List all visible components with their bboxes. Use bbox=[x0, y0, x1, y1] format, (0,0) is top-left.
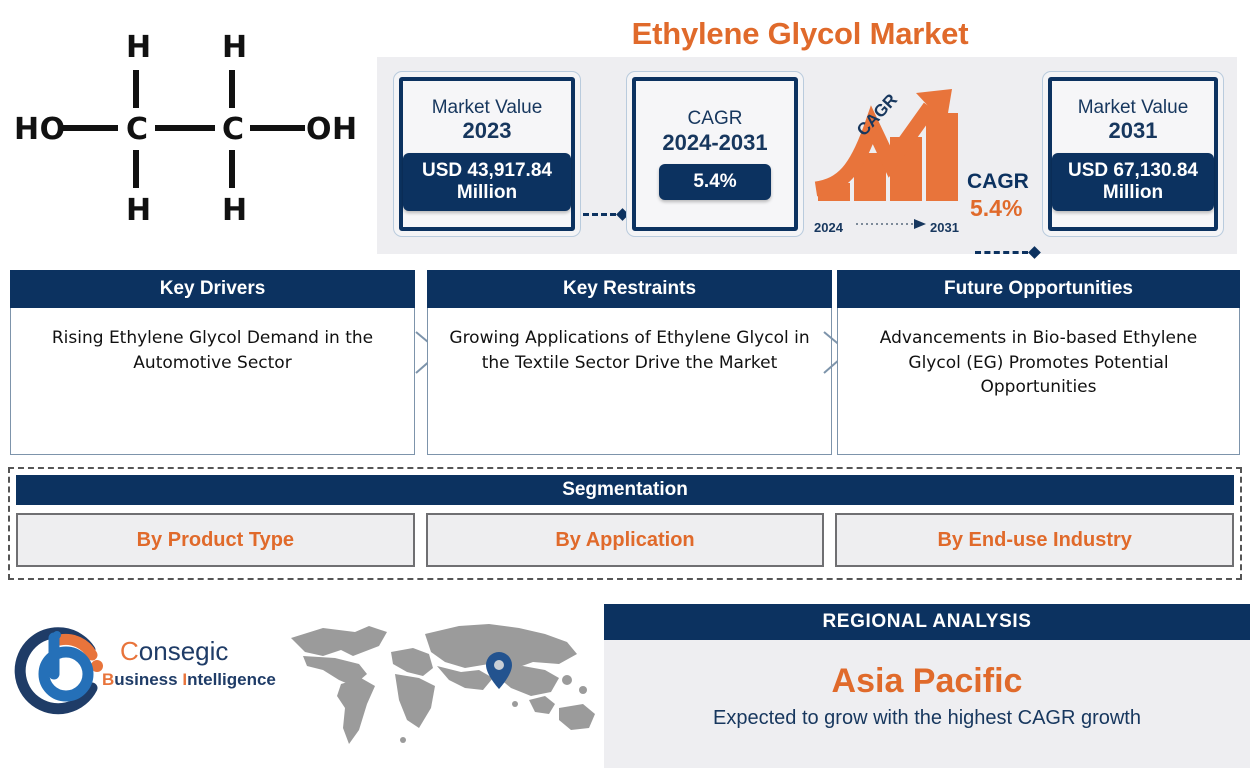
growth-bars-svg: CAGR bbox=[812, 85, 982, 215]
world-map-svg bbox=[283, 612, 603, 752]
panel-future-opportunities: Future Opportunities Advancements in Bio… bbox=[837, 270, 1240, 455]
panel-heading-future-opportunities: Future Opportunities bbox=[837, 270, 1240, 308]
consegic-logo-mark-icon bbox=[14, 622, 114, 718]
consegic-logo: Consegic Business Intelligence bbox=[14, 622, 284, 722]
logo-tagline-text: Business Intelligence bbox=[102, 670, 276, 690]
panel-text-future-opportunities: Advancements in Bio-based Ethylene Glyco… bbox=[837, 308, 1240, 455]
cagr-growth-chart-icon: CAGR 2024 2031 CAGR 5.4% bbox=[812, 85, 982, 235]
stat-title-2023: Market Value bbox=[432, 97, 543, 119]
stat-title-cagr: CAGR bbox=[688, 108, 743, 130]
cagr-label: CAGR bbox=[967, 170, 1029, 194]
segmentation-section: Segmentation By Product Type By Applicat… bbox=[8, 467, 1242, 580]
molecule-label-oh: OH bbox=[306, 112, 358, 147]
segmentation-item-by-application[interactable]: By Application bbox=[426, 513, 825, 567]
panel-text-key-restraints: Growing Applications of Ethylene Glycol … bbox=[427, 308, 832, 455]
panel-key-drivers: Key Drivers Rising Ethylene Glycol Deman… bbox=[10, 270, 415, 455]
cagr-value: 5.4% bbox=[970, 195, 1022, 222]
molecule-label-h-top-left: H bbox=[126, 30, 152, 65]
regional-analysis-heading: REGIONAL ANALYSIS bbox=[604, 604, 1250, 640]
segmentation-items-row: By Product Type By Application By End-us… bbox=[16, 513, 1234, 567]
molecule-label-h-bottom-left: H bbox=[126, 193, 152, 228]
world-map-graphic bbox=[283, 612, 603, 752]
regional-analysis-panel: REGIONAL ANALYSIS Asia Pacific Expected … bbox=[604, 604, 1250, 768]
growth-year-arrow-icon bbox=[856, 219, 928, 229]
connector-dotted-right bbox=[975, 247, 1039, 257]
panel-text-key-drivers: Rising Ethylene Glycol Demand in the Aut… bbox=[10, 308, 415, 455]
stat-value-2023: USD 43,917.84 Million bbox=[403, 153, 571, 212]
stat-period-cagr: 2024-2031 bbox=[662, 130, 767, 155]
regional-analysis-region-name: Asia Pacific bbox=[604, 662, 1250, 701]
stat-value-2031: USD 67,130.84 Million bbox=[1052, 153, 1214, 212]
stat-card-market-value-2031: Market Value 2031 USD 67,130.84 Million bbox=[1042, 71, 1224, 237]
segmentation-item-by-product-type[interactable]: By Product Type bbox=[16, 513, 415, 567]
panel-key-restraints: Key Restraints Growing Applications of E… bbox=[427, 270, 832, 455]
molecule-label-h-top-right: H bbox=[222, 30, 248, 65]
page-title: Ethylene Glycol Market bbox=[520, 16, 1080, 52]
growth-start-year: 2024 bbox=[814, 220, 843, 235]
segmentation-heading: Segmentation bbox=[16, 475, 1234, 505]
stat-year-2023: 2023 bbox=[463, 118, 512, 143]
connector-dotted-left bbox=[583, 209, 627, 219]
molecule-label-carbon-right: C bbox=[222, 112, 245, 147]
stat-value-cagr: 5.4% bbox=[659, 164, 770, 200]
segmentation-item-by-end-use-industry[interactable]: By End-use Industry bbox=[835, 513, 1234, 567]
stats-strip: Market Value 2023 USD 43,917.84 Million … bbox=[377, 57, 1237, 254]
molecule-label-h-bottom-right: H bbox=[222, 193, 248, 228]
infographic-root: HO OH C C H H H H Ethylene Glycol Market… bbox=[0, 0, 1250, 768]
logo-brand-text: Consegic bbox=[120, 636, 228, 667]
molecule-label-carbon-left: C bbox=[126, 112, 149, 147]
panel-heading-key-drivers: Key Drivers bbox=[10, 270, 415, 308]
growth-end-year: 2031 bbox=[930, 220, 959, 235]
stat-title-2031: Market Value bbox=[1078, 97, 1189, 119]
molecule-label-ho: HO bbox=[14, 112, 66, 147]
stat-year-2031: 2031 bbox=[1109, 118, 1158, 143]
stat-card-market-value-2023: Market Value 2023 USD 43,917.84 Million bbox=[393, 71, 581, 237]
ethylene-glycol-molecule-diagram: HO OH C C H H H H bbox=[0, 8, 375, 253]
stat-card-cagr-period: CAGR 2024-2031 5.4% bbox=[626, 71, 804, 237]
panel-heading-key-restraints: Key Restraints bbox=[427, 270, 832, 308]
drivers-restraints-opportunities-panels: Key Drivers Rising Ethylene Glycol Deman… bbox=[10, 270, 1240, 455]
regional-analysis-description: Expected to grow with the highest CAGR g… bbox=[604, 707, 1250, 730]
